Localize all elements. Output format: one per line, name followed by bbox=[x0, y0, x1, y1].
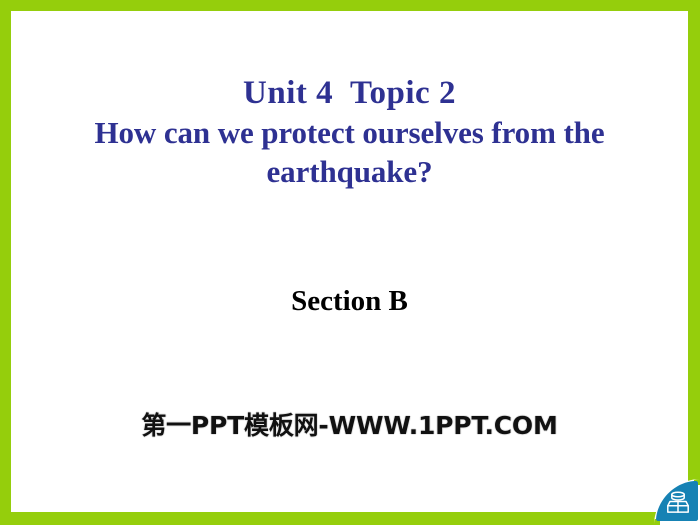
watermark-text: 第一PPT模板网-WWW.1PPT.COM bbox=[11, 409, 688, 443]
corner-badge[interactable] bbox=[654, 479, 700, 525]
slide-frame: Unit 4 Topic 2 How can we protect oursel… bbox=[0, 0, 700, 525]
title-line-question: How can we protect ourselves from the ea… bbox=[11, 113, 688, 191]
inkwell-book-icon bbox=[654, 479, 700, 525]
title-line-unit-topic: Unit 4 Topic 2 bbox=[11, 73, 688, 113]
slide-content-stage: Unit 4 Topic 2 How can we protect oursel… bbox=[11, 11, 688, 512]
slide-title: Unit 4 Topic 2 How can we protect oursel… bbox=[11, 73, 688, 191]
section-label: Section B bbox=[11, 283, 688, 319]
